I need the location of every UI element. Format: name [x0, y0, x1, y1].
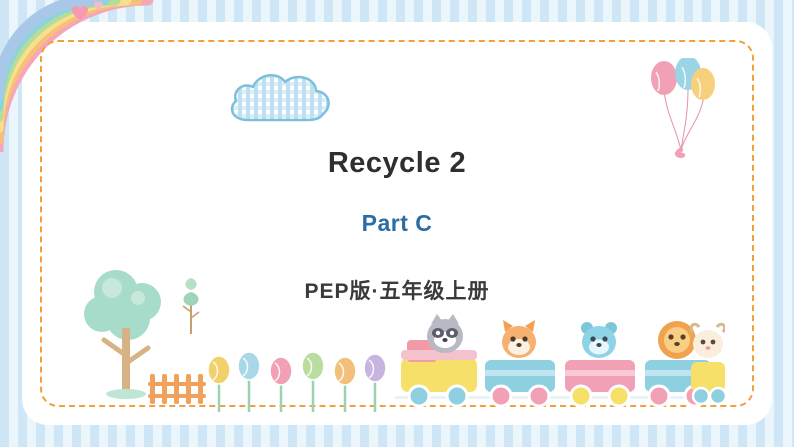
animal-train-decoration — [395, 300, 725, 412]
lollipop-flowers-decoration — [205, 352, 390, 414]
train-engine — [401, 314, 477, 406]
train-car-fox — [485, 320, 555, 406]
fence-decoration — [148, 370, 206, 404]
page-subtitle: Part C — [0, 210, 794, 237]
gingham-cloud-decoration — [222, 66, 340, 128]
train-car-sheep — [691, 324, 725, 404]
rainbow-arc-decoration — [0, 0, 240, 152]
hearts-decoration — [62, 0, 108, 26]
edition-label: PEP版·五年级上册 — [0, 275, 794, 305]
slide-root: Recycle 2 Part C PEP版·五年级上册 — [0, 0, 794, 447]
page-title: Recycle 2 — [0, 147, 794, 180]
train-car-bear — [565, 322, 635, 406]
